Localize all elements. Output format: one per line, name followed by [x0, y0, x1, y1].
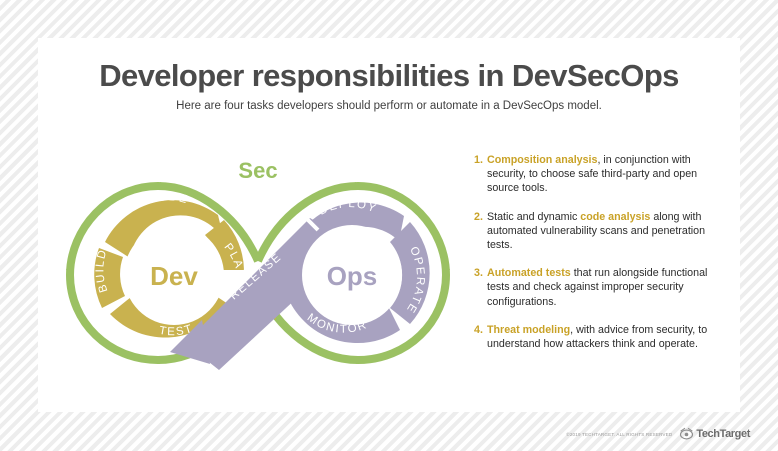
list-item: 1. Composition analysis, in conjunction …: [474, 153, 726, 196]
list-item-number: 1.: [474, 153, 487, 196]
list-item-text: Composition analysis, in conjunction wit…: [487, 153, 726, 196]
list-item-highlight: Automated tests: [487, 267, 571, 279]
ops-center-label: Ops: [327, 261, 378, 291]
list-item-text: Automated tests that run alongside funct…: [487, 266, 726, 309]
list-item-highlight: Composition analysis: [487, 154, 597, 166]
list-item-number: 4.: [474, 323, 487, 351]
responsibilities-list: 1. Composition analysis, in conjunction …: [474, 153, 726, 365]
list-item-text: Threat modeling, with advice from securi…: [487, 323, 726, 351]
list-item-highlight: Threat modeling: [487, 324, 570, 336]
footer: ©2019 TECHTARGET. ALL RIGHTS RESERVED Te…: [566, 427, 750, 441]
devsecops-infinity-diagram: Sec Dev Ops CODE PLAN BUILD TEST DEPLOY …: [52, 138, 464, 388]
techtarget-mark-icon: [679, 427, 694, 441]
list-item: 4. Threat modeling, with advice from sec…: [474, 323, 726, 351]
infographic-card: Developer responsibilities in DevSecOps …: [38, 38, 740, 412]
list-item: 3. Automated tests that run alongside fu…: [474, 266, 726, 309]
dev-center-label: Dev: [150, 261, 198, 291]
list-item-number: 2.: [474, 210, 487, 253]
techtarget-wordmark: TechTarget: [696, 428, 750, 440]
list-item-lead: Static and dynamic: [487, 211, 580, 223]
list-item-highlight: code analysis: [580, 211, 650, 223]
page-title: Developer responsibilities in DevSecOps: [38, 58, 740, 94]
copyright-text: ©2019 TECHTARGET. ALL RIGHTS RESERVED: [566, 432, 672, 437]
sec-label: Sec: [238, 158, 277, 183]
techtarget-logo: TechTarget: [679, 427, 750, 441]
list-item: 2. Static and dynamic code analysis alon…: [474, 210, 726, 253]
list-item-number: 3.: [474, 266, 487, 309]
page-subtitle: Here are four tasks developers should pe…: [38, 100, 740, 112]
list-item-text: Static and dynamic code analysis along w…: [487, 210, 726, 253]
